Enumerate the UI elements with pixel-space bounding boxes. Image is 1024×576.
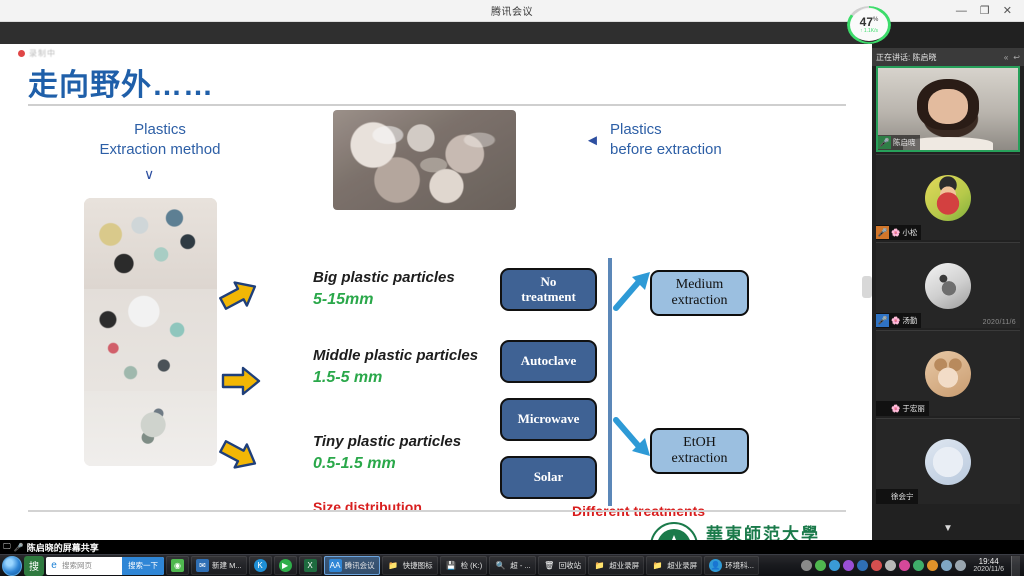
extraction-etoh-label: EtOHextraction	[672, 435, 728, 467]
tray-green-icon[interactable]	[815, 560, 826, 571]
participant-name-3: 🌸 于宏丽	[891, 403, 925, 414]
recycle-bin-icon: 🗑	[543, 559, 556, 572]
treatment-box-solar: Solar	[500, 456, 597, 499]
taskbar-clock[interactable]: 19:44 2020/11/6	[969, 558, 1008, 574]
treatment-box-microwave: Microwave	[500, 398, 597, 441]
taskbar-item-env-sci-doc[interactable]: 👤 环境科...	[704, 556, 759, 575]
taskbar-label-folder-rec-2: 超业录屏	[667, 560, 697, 571]
panel-watermark: 2020/11/6	[983, 319, 1016, 326]
bottom-divider	[28, 510, 846, 512]
system-tray: 19:44 2020/11/6	[801, 556, 1022, 576]
search-button[interactable]: 搜索一下	[122, 557, 164, 575]
tray-teal-icon[interactable]	[913, 560, 924, 571]
arrow-left-icon: ◄	[585, 132, 600, 149]
participant-emoji-3: 🌸	[891, 404, 900, 413]
participant-tile-4[interactable]: 徐会宁	[876, 418, 1020, 504]
tencent-meeting-icon: AA	[329, 559, 342, 572]
back-icon[interactable]: ↩	[1013, 53, 1020, 62]
avatar-2	[925, 263, 971, 309]
taskbar-item-excel[interactable]: X	[299, 556, 322, 575]
treatment-no-treatment-label: Notreatment	[521, 275, 576, 304]
clock-time: 19:44	[973, 558, 1004, 566]
extraction-box-medium: Mediumextraction	[650, 270, 749, 316]
tray-network-icon[interactable]	[941, 560, 952, 571]
folder-icon-2: 📁	[593, 559, 606, 572]
tray-orange-icon[interactable]	[927, 560, 938, 571]
label-extraction-method: Plastics Extraction method	[85, 120, 235, 161]
drive-icon: 💾	[445, 559, 458, 572]
extraction-box-etoh: EtOHextraction	[650, 428, 749, 474]
search-placeholder: 搜索网页	[62, 560, 122, 571]
participant-name-0: 陈启晓	[893, 137, 916, 148]
performance-percent-unit: %	[873, 17, 878, 23]
yellow-arrow-down-icon	[219, 438, 259, 472]
label-size-distribution: Size distribution	[313, 499, 422, 515]
university-seal-icon	[650, 522, 698, 540]
taskbar-item-outlook[interactable]: ✉ 新建 M...	[191, 556, 247, 575]
recording-indicator: 录制中	[18, 48, 56, 59]
treatment-microwave-label: Microwave	[518, 412, 580, 426]
participant-tile-1[interactable]: 🎤 🌸 小松	[876, 154, 1020, 240]
play-icon: ▶	[279, 559, 292, 572]
performance-inner: 47% ↑ 1.1K/s	[850, 9, 888, 41]
sogou-pinyin-icon[interactable]: 搜	[24, 556, 44, 576]
taskbar-item-sogou-browser[interactable]: ◉	[166, 556, 189, 575]
participant-name-2: 🌸 汤勤	[891, 315, 917, 326]
taskbar-label-tencent-meeting: 腾讯会议	[345, 560, 375, 571]
yellow-arrow-up-icon	[219, 278, 259, 312]
excel-icon: X	[304, 559, 317, 572]
collapse-icon[interactable]: «	[1004, 53, 1008, 62]
participant-name-1: 🌸 小松	[891, 227, 917, 238]
taskbar-label-folder-rec-1: 超业录屏	[609, 560, 639, 571]
slide-title: 走向野外……	[28, 60, 214, 104]
category-tiny-name: Tiny plastic particles	[313, 433, 461, 450]
treatment-solar-label: Solar	[534, 470, 564, 484]
label-before-line2: before extraction	[610, 140, 770, 160]
taskbar-label-recycle-bin: 回收站	[559, 560, 582, 571]
screen-share-label: 陈启晓的屏幕共享	[27, 541, 99, 554]
toolbar-strip	[0, 22, 872, 44]
photo-band-tiny	[84, 391, 217, 466]
performance-percent: 47%	[860, 16, 879, 28]
mic-icon-0[interactable]: 🎤	[878, 136, 891, 149]
window-title: 腾讯会议	[491, 3, 533, 18]
category-big-name: Big plastic particles	[313, 269, 455, 286]
taskbar-label-folder-shortcuts: 快捷图标	[403, 560, 433, 571]
yellow-arrow-right-icon	[221, 364, 261, 398]
participant-name-text-3: 于宏丽	[902, 403, 925, 414]
title-divider	[28, 104, 846, 106]
outlook-icon: ✉	[196, 559, 209, 572]
avatar-1	[925, 175, 971, 221]
taskbar-label-drive-k: 检 (K:)	[461, 560, 483, 571]
category-big: Big plastic particles 5-15mm	[313, 269, 455, 309]
participant-name-text-1: 小松	[902, 227, 917, 238]
chevron-down-icon: ∨	[144, 166, 154, 183]
participant-tile-2[interactable]: 🎤 🌸 汤勤 2020/11/6	[876, 242, 1020, 328]
category-middle-size: 1.5-5 mm	[313, 369, 478, 387]
label-before-line1: Plastics	[610, 120, 770, 140]
tray-pink-icon[interactable]	[899, 560, 910, 571]
participant-namebar-0: 🎤 陈启晓	[878, 135, 920, 150]
performance-badge[interactable]: 47% ↑ 1.1K/s	[847, 6, 891, 44]
mic-icon-2[interactable]: 🎤	[876, 314, 889, 327]
minimize-button[interactable]: —	[956, 6, 967, 17]
browser-icon: e	[46, 560, 62, 571]
label-plastics-before-extraction: Plastics before extraction	[610, 120, 770, 161]
participant-namebar-4: 徐会宁	[876, 489, 918, 504]
taskbar-item-folder-rec-1[interactable]: 📁 超业录屏	[588, 556, 644, 575]
search-input[interactable]: e 搜索网页 搜索一下	[46, 557, 164, 575]
university-seal-inner	[657, 529, 691, 540]
participant-name-text-2: 汤勤	[902, 315, 917, 326]
tray-purple-icon[interactable]	[843, 560, 854, 571]
show-desktop-button[interactable]	[1011, 556, 1020, 576]
taskbar-item-tencent-meeting[interactable]: AA 腾讯会议	[324, 556, 380, 575]
category-tiny-size: 0.5-1.5 mm	[313, 455, 461, 473]
avatar-face-shape	[928, 89, 967, 123]
taskbar-item-search-window[interactable]: 🔍 超 - ...	[489, 556, 535, 575]
taskbar-item-recycle-bin[interactable]: 🗑 回收站	[538, 556, 587, 575]
extraction-medium-label: Mediumextraction	[672, 277, 728, 309]
maximize-button[interactable]: ❐	[980, 6, 990, 17]
active-speaker-label: 正在讲话: 陈启晓	[876, 52, 936, 63]
tray-microphone-icon[interactable]	[885, 560, 896, 571]
taskbar-label-outlook: 新建 M...	[212, 560, 242, 571]
photo-plastic-size-classes	[84, 198, 217, 466]
taskbar-label-env-sci-doc: 环境科...	[725, 560, 754, 571]
kugou-icon: K	[254, 559, 267, 572]
search-icon: 🔍	[494, 559, 507, 572]
windows-taskbar: 搜 e 搜索网页 搜索一下 ◉ ✉ 新建 M... K ▶ X AA 腾讯会议 …	[0, 554, 1024, 576]
panel-header-icons: « ↩	[1004, 53, 1020, 62]
tray-navy-icon[interactable]	[857, 560, 868, 571]
screen-icon: 🖵	[3, 542, 11, 552]
taskbar-item-kugou[interactable]: K	[249, 556, 272, 575]
participant-namebar-3: 🌸 于宏丽	[876, 401, 929, 416]
tray-keyboard-icon[interactable]	[801, 560, 812, 571]
participant-tile-0[interactable]: 🎤 陈启晓	[876, 66, 1020, 152]
active-speaker-bar: 正在讲话: 陈启晓 « ↩	[872, 48, 1024, 66]
treatment-box-autoclave: Autoclave	[500, 340, 597, 383]
clock-date: 2020/11/6	[973, 566, 1004, 573]
category-middle: Middle plastic particles 1.5-5 mm	[313, 347, 478, 387]
participant-tile-3[interactable]: 🌸 于宏丽	[876, 330, 1020, 416]
start-button[interactable]	[2, 556, 22, 576]
taskbar-item-folder-shortcuts[interactable]: 📁 快捷图标	[382, 556, 438, 575]
document-icon: 👤	[709, 559, 722, 572]
photo-band-middle	[84, 289, 217, 391]
scroll-down-button[interactable]: ▼	[872, 520, 1024, 536]
university-logo-text: 華東師范大學 EAST CHINA NORMAL UNIVERSITY	[706, 526, 820, 540]
close-button[interactable]: ✕	[1003, 6, 1012, 17]
photo-plastics-before-extraction	[333, 110, 516, 210]
tray-volume-icon[interactable]	[955, 560, 966, 571]
screen-root: 腾讯会议 — ❐ ✕ 47% ↑ 1.1K/s 录制中 走向野外…… Plast…	[0, 0, 1024, 576]
recording-label: 录制中	[29, 48, 56, 59]
microphone-icon: 🎤	[14, 543, 24, 552]
participants-panel: 正在讲话: 陈启晓 « ↩ 🎤 陈启晓 🎤 🌸 小松	[872, 22, 1024, 540]
avatar-4	[925, 439, 971, 485]
performance-percent-value: 47	[860, 15, 873, 29]
participant-emoji-1: 🌸	[891, 228, 900, 237]
tray-red-icon[interactable]	[871, 560, 882, 571]
treatment-autoclave-label: Autoclave	[521, 354, 577, 368]
participant-emoji-2: 🌸	[891, 316, 900, 325]
treatment-box-no-treatment: Notreatment	[500, 268, 597, 311]
category-tiny: Tiny plastic particles 0.5-1.5 mm	[313, 433, 461, 473]
folder-icon-3: 📁	[651, 559, 664, 572]
university-logo: 華東師范大學 EAST CHINA NORMAL UNIVERSITY	[650, 522, 820, 540]
tray-blue-icon[interactable]	[829, 560, 840, 571]
screen-share-strip: 🖵 🎤 陈启晓的屏幕共享	[0, 540, 1024, 554]
photo-band-big	[84, 198, 217, 289]
recording-dot-icon	[18, 50, 25, 57]
label-extraction-line2: Extraction method	[85, 140, 235, 160]
participant-name-4: 徐会宁	[891, 491, 914, 502]
taskbar-item-media-player[interactable]: ▶	[274, 556, 297, 575]
sogou-browser-icon: ◉	[171, 559, 184, 572]
category-big-size: 5-15mm	[313, 291, 455, 309]
panel-resize-handle[interactable]	[862, 276, 872, 298]
taskbar-item-folder-rec-2[interactable]: 📁 超业录屏	[646, 556, 702, 575]
mic-icon-3[interactable]	[876, 402, 889, 415]
taskbar-item-drive-k[interactable]: 💾 检 (K:)	[440, 556, 488, 575]
shared-screen-slide: 录制中 走向野外…… Plastics Extraction method ∨ …	[0, 44, 872, 540]
participant-namebar-1: 🎤 🌸 小松	[876, 225, 921, 240]
folder-icon-1: 📁	[387, 559, 400, 572]
category-middle-name: Middle plastic particles	[313, 347, 478, 364]
university-name-chinese: 華東師范大學	[706, 526, 820, 540]
performance-sublabel: ↑ 1.1K/s	[860, 29, 878, 34]
label-extraction-line1: Plastics	[85, 120, 235, 140]
participant-namebar-2: 🎤 🌸 汤勤	[876, 313, 921, 328]
avatar-3	[925, 351, 971, 397]
taskbar-label-search-window: 超 - ...	[510, 560, 530, 571]
mic-icon-4[interactable]	[876, 490, 889, 503]
mic-icon-1[interactable]: 🎤	[876, 226, 889, 239]
window-controls: — ❐ ✕	[956, 0, 1020, 22]
